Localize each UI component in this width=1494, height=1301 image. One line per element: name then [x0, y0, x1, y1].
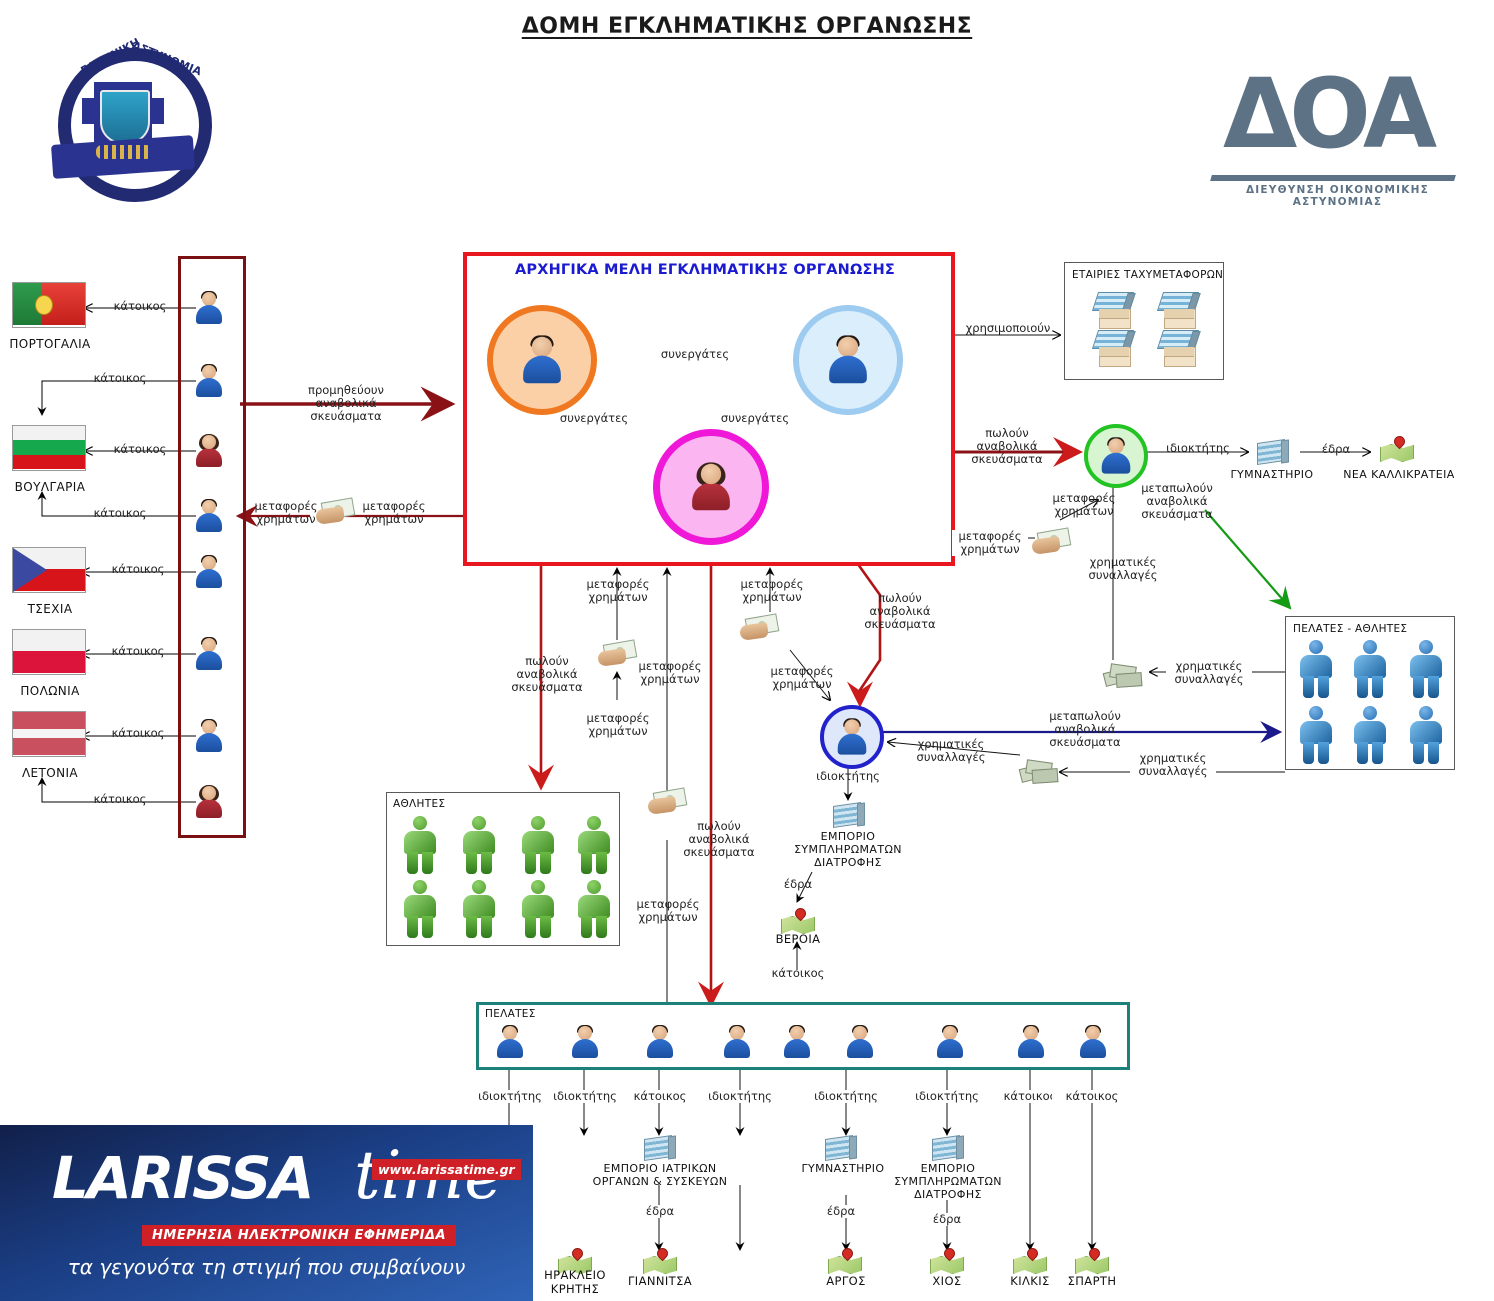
network-member-avatar [194, 435, 224, 467]
flag-czechia [12, 547, 86, 593]
edge-label-partners: συνεργάτες [710, 412, 800, 425]
supplement-business-name: ΕΜΠΟΡΙΟ ΣΥΜΠΛΗΡΩΜΑΤΩΝ ΔΙΑΤΡΟΦΗΣ [788, 830, 908, 869]
supplement-owner-node[interactable] [820, 705, 884, 769]
edge-label-supply: προμηθεύουν αναβολικά σκευάσματα [286, 384, 406, 423]
gym-business-name: ΓΥΜΝΑΣΤΗΡΙΟ [1222, 468, 1322, 481]
athlete-figure [461, 816, 497, 874]
leader-node-magenta[interactable] [653, 429, 769, 545]
edge-label-partners: συνεργάτες [549, 412, 639, 425]
medical-devices-building-icon [642, 1133, 676, 1161]
courier-companies-title: ΕΤΑΙΡΙΕΣ ΤΑΧΥΜΕΤΑΦΟΡΩΝ [1072, 269, 1223, 281]
gym-city-name: ΝΕΑ ΚΑΛΛΙΚΡΑΤΕΙΑ [1335, 468, 1463, 481]
client-avatar [782, 1026, 812, 1058]
map-pin-icon [930, 1248, 964, 1274]
athlete-figure [402, 816, 438, 874]
edge-label-money: μεταφορές χρημάτων [356, 500, 432, 526]
client-avatar [645, 1026, 675, 1058]
edge-label-transactions: χρηματικές συναλλαγές [1080, 556, 1166, 582]
client-athlete-figure [1352, 640, 1388, 698]
clients-title: ΠΕΛΑΤΕΣ [485, 1008, 536, 1020]
edge-label-money: μεταφορές χρημάτων [1046, 492, 1122, 518]
relation-label-resident: κάτοικος [80, 372, 160, 385]
money-bundle-icon [1020, 758, 1054, 784]
larissatime-watermark: LARISSA time www.larissatime.gr ΗΜΕΡΗΣΙΑ… [0, 1125, 533, 1301]
edge-label-transactions: χρηματικές συναλλαγές [1166, 660, 1252, 686]
relation-label-resident: κάτοικος [98, 727, 178, 740]
client-athletes-title: ΠΕΛΑΤΕΣ - ΑΘΛΗΤΕΣ [1293, 623, 1407, 635]
edge-label-use: χρησιμοποιούν [958, 322, 1058, 335]
athlete-figure [576, 816, 612, 874]
edge-label-money: μεταφορές χρημάτων [248, 500, 324, 526]
flag-poland [12, 629, 86, 675]
bottom-city-name: ΗΡΑΚΛΕΙΟ ΚΡΗΤΗΣ [520, 1268, 630, 1296]
athlete-figure [402, 880, 438, 938]
cash-icon [648, 786, 688, 816]
country-name-bulgaria: ΒΟΥΛΓΑΡΙΑ [0, 480, 100, 494]
edge-label-transactions: χρηματικές συναλλαγές [908, 738, 994, 764]
money-bundle-icon [1104, 662, 1138, 688]
edge-label-sell: πωλούν αναβολικά σκευάσματα [855, 592, 945, 631]
client-avatar [935, 1026, 965, 1058]
leader-node-orange[interactable] [487, 305, 597, 415]
courier-icon [1095, 292, 1139, 332]
bottom-city-name: ΑΡΓΟΣ [791, 1274, 901, 1288]
edge-label-seat: έδρα [770, 878, 826, 891]
client-athlete-figure [1408, 640, 1444, 698]
client-avatar [495, 1026, 525, 1058]
map-pin-icon [1380, 436, 1414, 462]
supplement-owner-avatar [836, 719, 869, 754]
watermark-brand-left: LARISSA [52, 1149, 312, 1207]
cash-icon [316, 496, 356, 526]
edge-label-money: μεταφορές χρημάτων [764, 665, 840, 691]
leaders-box-title: ΑΡΧΗΓΙΚΑ ΜΕΛΗ ΕΓΚΛΗΜΑΤΙΚΗΣ ΟΡΓΑΝΩΣΗΣ [463, 262, 947, 278]
country-name-poland: ΠΟΛΩΝΙΑ [0, 684, 100, 698]
gym-owner-node[interactable] [1084, 424, 1148, 488]
flag-latvia [12, 711, 86, 757]
leader-avatar [826, 337, 870, 383]
edge-label-seat: έδρα [801, 1205, 881, 1218]
edge-label-resident: κάτοικος [758, 967, 838, 980]
edge-label-sell: πωλούν αναβολικά σκευάσματα [962, 427, 1052, 466]
network-member-avatar [194, 638, 224, 670]
courier-icon [1160, 292, 1204, 332]
supplement-city-name: ΒΕΡΟΙΑ [748, 932, 848, 946]
client-relation-label: ιδιοκτήτης [806, 1090, 886, 1103]
watermark-subtitle: ΗΜΕΡΗΣΙΑ ΗΛΕΚΤΡΟΝΙΚΗ ΕΦΗΜΕΡΙΔΑ [142, 1225, 456, 1246]
map-pin-icon [643, 1248, 677, 1274]
client-avatar [722, 1026, 752, 1058]
edge-label-sell: πωλούν αναβολικά σκευάσματα [674, 820, 764, 859]
client-relation-label: ιδιοκτήτης [700, 1090, 780, 1103]
network-member-avatar [194, 786, 224, 818]
edge-label-owner: ιδιοκτήτης [1158, 442, 1238, 455]
client-avatar [845, 1026, 875, 1058]
athlete-figure [520, 816, 556, 874]
edge-label-transactions: χρηματικές συναλλαγές [1130, 752, 1216, 778]
edge-label-resell: μεταπωλούν αναβολικά σκευάσματα [1132, 482, 1222, 521]
edge-label-seat: έδρα [907, 1213, 987, 1226]
cash-icon [740, 612, 780, 642]
leader-avatar [689, 464, 733, 510]
athlete-figure [461, 880, 497, 938]
client-athlete-figure [1298, 640, 1334, 698]
network-member-avatar [194, 292, 224, 324]
edge-label-money: μεταφορές χρημάτων [632, 660, 708, 686]
network-member-avatar [194, 500, 224, 532]
client-relation-label: κάτοικος [620, 1090, 700, 1103]
edge-label-money: μεταφορές χρημάτων [580, 712, 656, 738]
relation-label-resident: κάτοικος [80, 507, 160, 520]
client-avatar [1016, 1026, 1046, 1058]
relation-label-resident: κάτοικος [100, 300, 180, 313]
client-avatar [570, 1026, 600, 1058]
bottom-business-name: ΕΜΠΟΡΙΟ ΙΑΤΡΙΚΩΝ ΟΡΓΑΝΩΝ & ΣΥΣΚΕΥΩΝ [583, 1162, 737, 1188]
client-relation-label: ιδιοκτήτης [470, 1090, 550, 1103]
athletes-title: ΑΘΛΗΤΕΣ [393, 798, 445, 810]
client-relation-label: ιδιοκτήτης [907, 1090, 987, 1103]
client-athlete-figure [1298, 706, 1334, 764]
network-member-avatar [194, 720, 224, 752]
edge-label-money: μεταφορές χρημάτων [734, 578, 810, 604]
gym-owner-avatar [1100, 438, 1133, 473]
map-pin-icon [781, 908, 815, 934]
edge-label-money: μεταφορές χρημάτων [952, 530, 1028, 556]
watermark-tagline: τα γεγονότα τη στιγμή που συμβαίνουν [0, 1255, 533, 1279]
edge-label-sell: πωλούν αναβολικά σκευάσματα [502, 655, 592, 694]
edge-label-seat: έδρα [620, 1205, 700, 1218]
bottom-business-name: ΕΜΠΟΡΙΟ ΣΥΜΠΛΗΡΩΜΑΤΩΝ ΔΙΑΤΡΟΦΗΣ [885, 1162, 1011, 1201]
map-pin-icon [1013, 1248, 1047, 1274]
country-name-latvia: ΛΕΤΟΝΙΑ [0, 766, 100, 780]
edge-label-seat: έδρα [1308, 443, 1364, 456]
relation-label-resident: κάτοικος [100, 443, 180, 456]
edge-label-money: μεταφορές χρημάτων [630, 898, 706, 924]
gym-building-icon [1255, 437, 1289, 465]
country-name-portugal: ΠΟΡΤΟΓΑΛΙΑ [0, 337, 100, 351]
map-pin-icon [1075, 1248, 1109, 1274]
leader-node-lightblue[interactable] [793, 305, 903, 415]
client-athlete-figure [1408, 706, 1444, 764]
client-relation-label: ιδιοκτήτης [545, 1090, 625, 1103]
athlete-figure [520, 880, 556, 938]
network-member-avatar [194, 556, 224, 588]
network-member-avatar [194, 365, 224, 397]
gym-building-icon [823, 1133, 857, 1161]
supplement-building-icon [831, 800, 865, 828]
flag-portugal [12, 282, 86, 328]
client-athlete-figure [1352, 706, 1388, 764]
edge-label-money: μεταφορές χρημάτων [580, 578, 656, 604]
cash-icon [1032, 526, 1072, 556]
courier-icon [1095, 330, 1139, 370]
courier-icon [1160, 330, 1204, 370]
athlete-figure [576, 880, 612, 938]
relation-label-resident: κάτοικος [98, 645, 178, 658]
relation-label-resident: κάτοικος [80, 793, 160, 806]
edge-label-owner: ιδιοκτήτης [808, 770, 888, 783]
edge-label-resell: μεταπωλούν αναβολικά σκευάσματα [1040, 710, 1130, 749]
map-pin-icon [828, 1248, 862, 1274]
edge-label-partners: συνεργάτες [650, 348, 740, 361]
leader-avatar [520, 337, 564, 383]
watermark-brand: LARISSA time www.larissatime.gr ΗΜΕΡΗΣΙΑ… [24, 1139, 514, 1239]
bottom-city-name: ΣΠΑΡΤΗ [1037, 1274, 1147, 1288]
watermark-url: www.larissatime.gr [372, 1159, 521, 1180]
relation-label-resident: κάτοικος [98, 563, 178, 576]
flag-bulgaria [12, 425, 86, 471]
client-relation-label: κάτοικος [1052, 1090, 1132, 1103]
supplement-building-icon [930, 1133, 964, 1161]
country-name-czechia: ΤΣΕΧΙΑ [0, 602, 100, 616]
client-avatar [1078, 1026, 1108, 1058]
